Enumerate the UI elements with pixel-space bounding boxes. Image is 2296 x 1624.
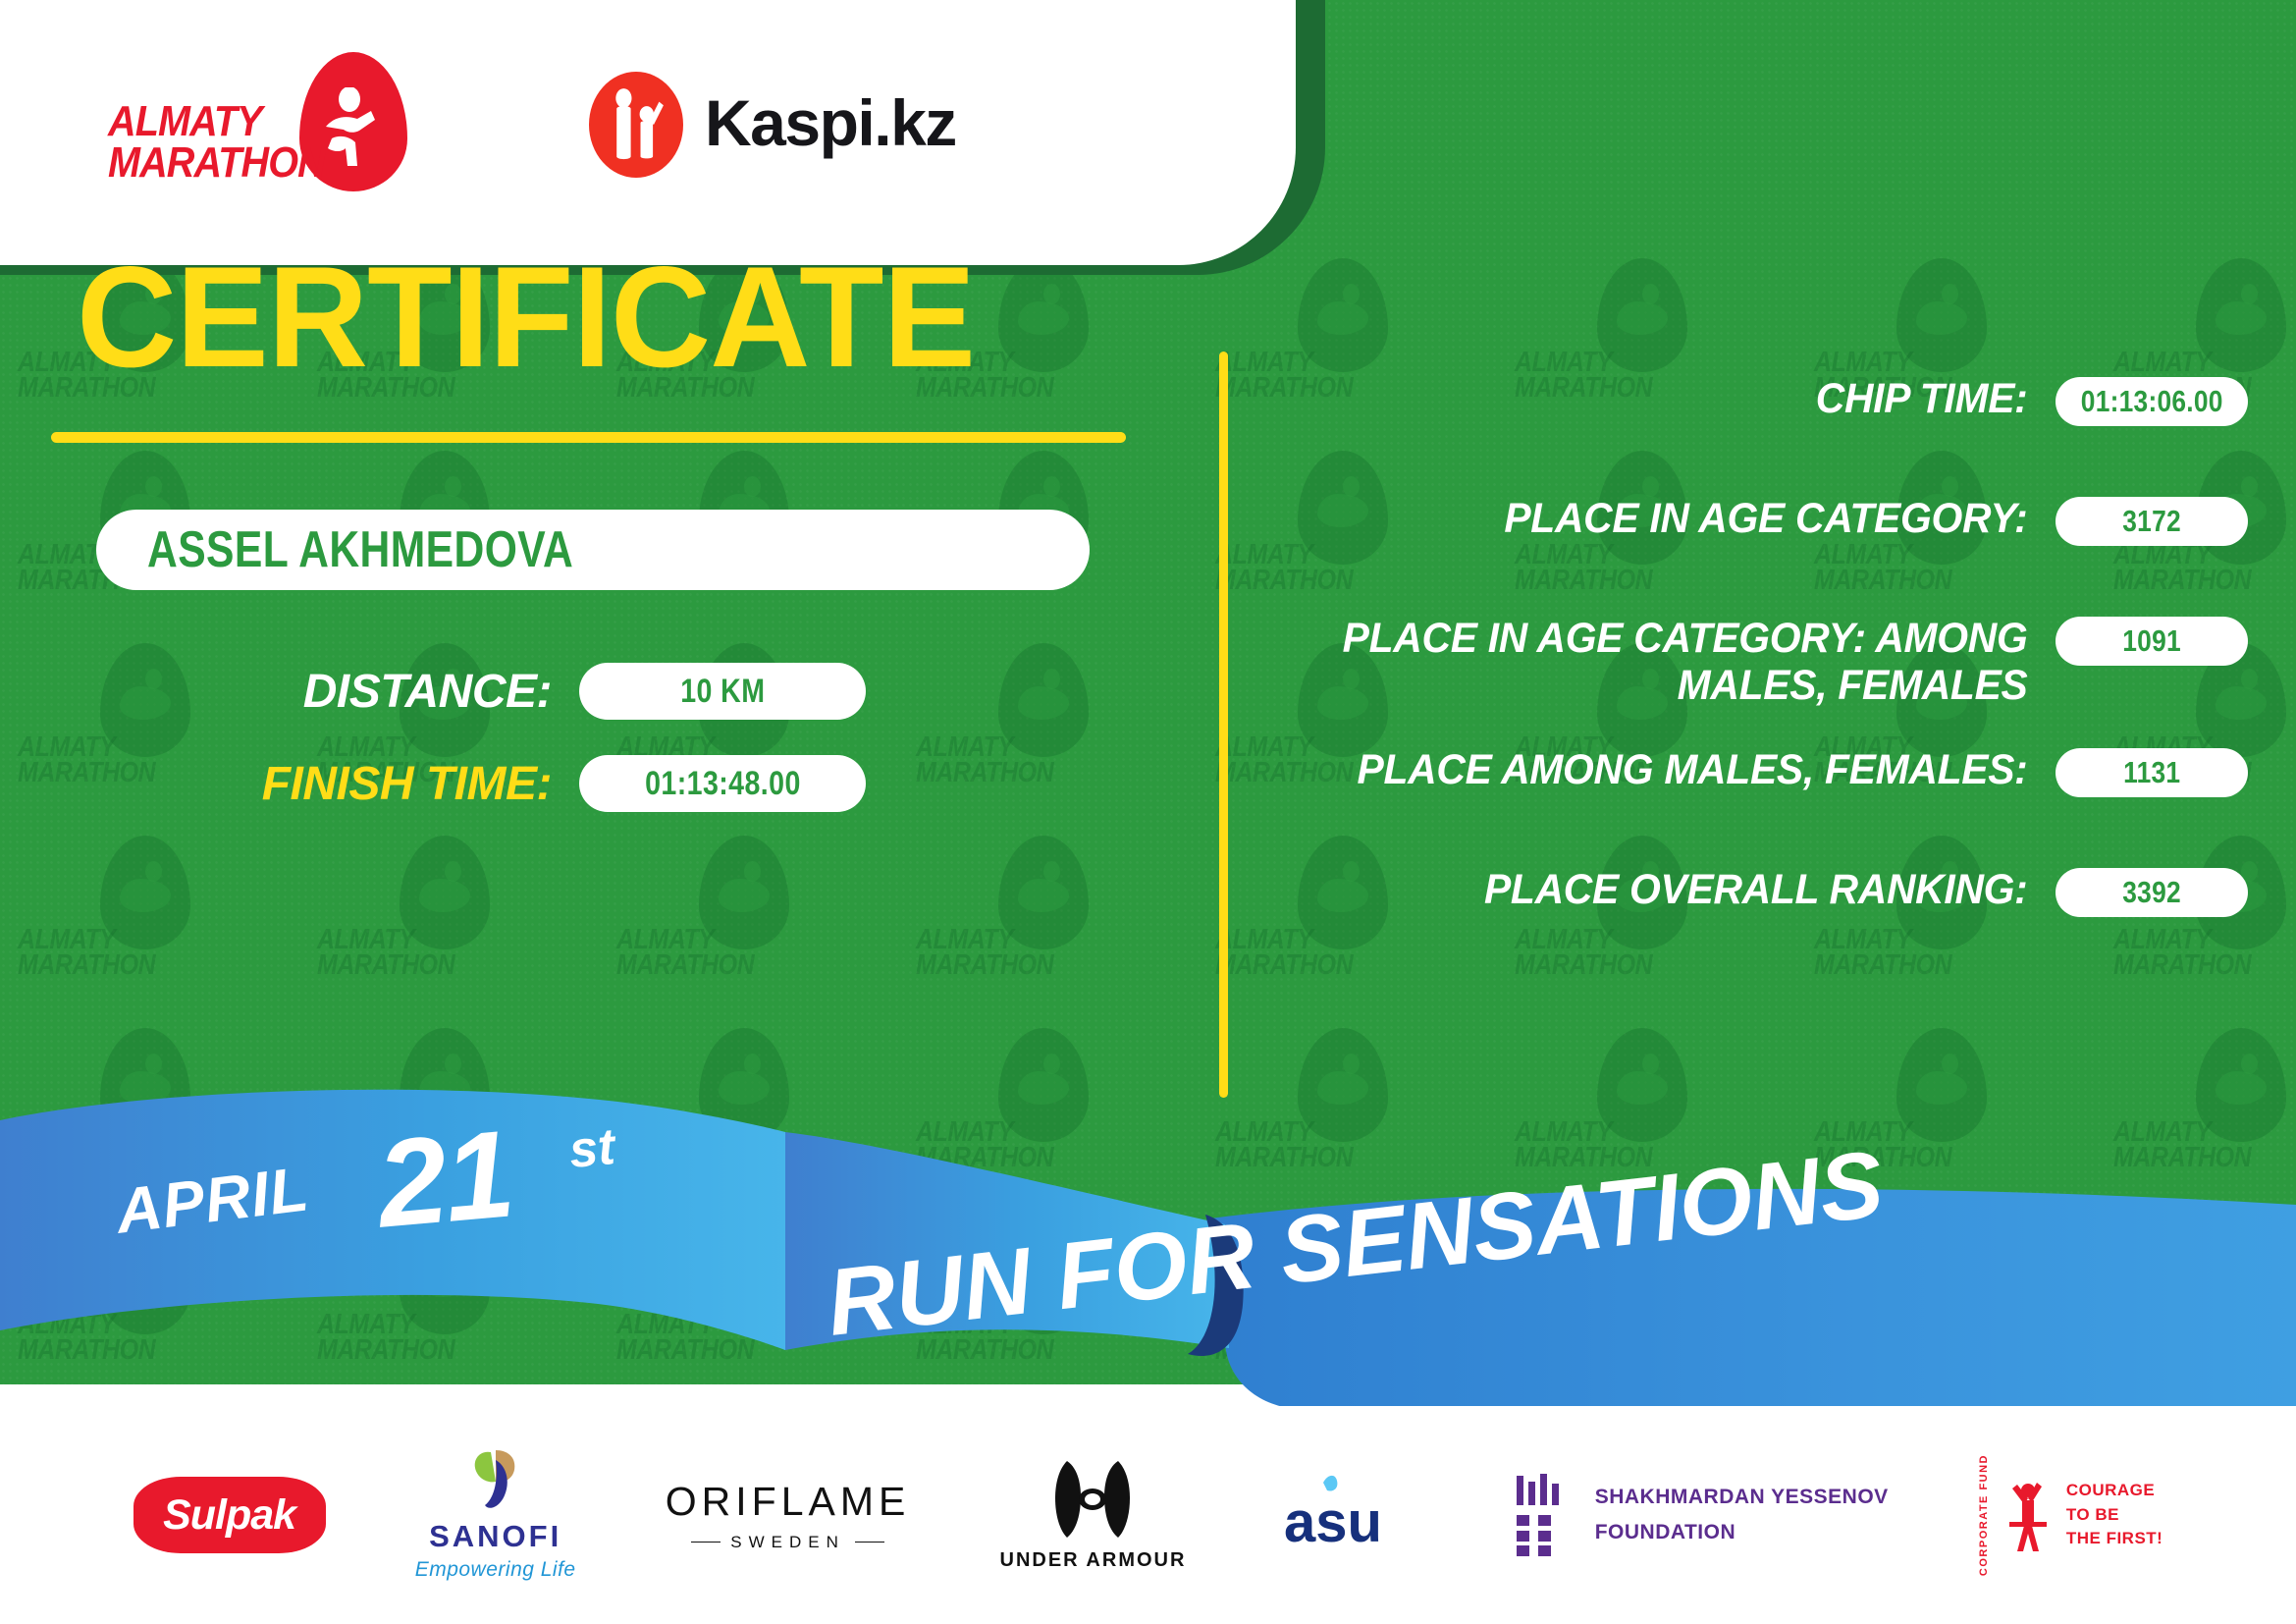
watermark-text: ALMATYMARATHON [2113, 1312, 2251, 1364]
courage-line-3: THE FIRST! [2066, 1529, 2163, 1547]
sponsors-bar: Sulpak SANOFI Empowering Life ORIFLAME S… [0, 1406, 2296, 1624]
kaspi-figures-icon [589, 64, 683, 182]
watermark-text: ALMATYMARATHON [916, 927, 1053, 979]
under-armour-wordmark: UNDER ARMOUR [1000, 1549, 1187, 1572]
stat-value: 1091 [2122, 623, 2181, 659]
sponsor-sanofi: SANOFI Empowering Life [415, 1448, 576, 1582]
sponsor-sulpak: Sulpak [133, 1477, 326, 1553]
stat-row: PLACE AMONG MALES, FEMALES:1131 [1266, 746, 2248, 829]
left-stat-label: FINISH TIME: [0, 757, 579, 811]
courage-fund-wordmark: COURAGE TO BE THE FIRST! [2066, 1479, 2163, 1551]
watermark-drop-icon [1597, 258, 1687, 372]
watermark-tile: ALMATYMARATHON [560, 1198, 859, 1384]
left-stat-row: FINISH TIME:01:13:48.00 [0, 755, 1207, 812]
certificate-page: ALMATYMARATHONALMATYMARATHONALMATYMARATH… [0, 0, 2296, 1624]
sponsor-oriflame: ORIFLAME SWEDEN [666, 1479, 911, 1552]
oriflame-wordmark: ORIFLAME [666, 1479, 911, 1525]
marathon-line: MARATHON [108, 138, 325, 187]
watermark-text: ALMATYMARATHON [18, 1119, 155, 1171]
stat-label: PLACE OVERALL RANKING: [1306, 866, 2056, 913]
sponsor-under-armour: UNDER ARMOUR [1000, 1459, 1187, 1572]
header-logos-row: ALMATY MARATHON Kaspi.kz [0, 0, 1296, 265]
stat-value: 1131 [2123, 755, 2180, 790]
watermark-drop-icon [1896, 1220, 1987, 1334]
sanofi-tagline: Empowering Life [415, 1558, 576, 1582]
watermark-text: ALMATYMARATHON [317, 1312, 454, 1364]
courage-line-2: TO BE [2066, 1505, 2119, 1524]
watermark-text: ALMATYMARATHON [616, 927, 754, 979]
watermark-drop-icon [1298, 258, 1388, 372]
left-stat-pill: 10 KM [579, 663, 866, 720]
stat-row: PLACE IN AGE CATEGORY: AMONG MALES, FEMA… [1266, 615, 2248, 709]
title-underline-rule [51, 432, 1126, 443]
watermark-tile: ALMATYMARATHON [859, 1005, 1158, 1198]
stat-value-pill: 01:13:06.00 [2056, 377, 2248, 426]
watermark-drop-icon [699, 836, 789, 949]
left-stat-pill: 01:13:48.00 [579, 755, 866, 812]
stat-label: PLACE AMONG MALES, FEMALES: [1306, 746, 2056, 793]
watermark-text: ALMATYMARATHON [18, 927, 155, 979]
watermark-drop-icon [1597, 1028, 1687, 1142]
svg-text:asu: asu [1284, 1490, 1382, 1554]
oriflame-country-label: SWEDEN [691, 1533, 884, 1552]
watermark-text: ALMATYMARATHON [616, 1312, 754, 1364]
participant-name-value: ASSEL AKHMEDOVA [147, 520, 573, 579]
stat-label: PLACE IN AGE CATEGORY: AMONG MALES, FEMA… [1306, 615, 2056, 709]
watermark-drop-icon [699, 1028, 789, 1142]
asu-logo: asu [1276, 1471, 1423, 1559]
watermark-text: ALMATYMARATHON [1515, 1312, 1652, 1364]
sanofi-wordmark: SANOFI [429, 1519, 561, 1554]
yessenov-wordmark: SHAKHMARDAN YESSENOV FOUNDATION [1595, 1480, 1889, 1549]
watermark-tile: ALMATYMARATHON [1158, 1005, 1458, 1198]
watermark-text: ALMATYMARATHON [916, 1119, 1053, 1171]
stat-row: PLACE IN AGE CATEGORY:3172 [1266, 495, 2248, 577]
watermark-drop-icon [998, 1028, 1089, 1142]
almaty-marathon-logo: ALMATY MARATHON [108, 44, 442, 201]
watermark-drop-icon [400, 836, 490, 949]
courage-figure-icon [2002, 1477, 2055, 1553]
vertical-divider [1219, 352, 1228, 1098]
watermark-drop-icon [998, 836, 1089, 949]
yessenov-line-2: FOUNDATION [1595, 1521, 1735, 1543]
stat-value-pill: 1091 [2056, 617, 2248, 666]
stat-label: PLACE IN AGE CATEGORY: [1306, 495, 2056, 542]
courage-line-1: COURAGE [2066, 1481, 2155, 1499]
watermark-drop-icon [1896, 258, 1987, 372]
stat-value: 3392 [2122, 875, 2181, 910]
watermark-drop-icon [1896, 1028, 1987, 1142]
ribbon-day-suffix: st [566, 1117, 616, 1180]
stat-label: CHIP TIME: [1306, 375, 2056, 422]
sanofi-mark-icon [465, 1448, 526, 1515]
kaspi-wordmark: Kaspi.kz [705, 85, 956, 160]
watermark-drop-icon [100, 836, 190, 949]
stat-value-pill: 3392 [2056, 868, 2248, 917]
yessenov-foundation-logo: SHAKHMARDAN YESSENOV FOUNDATION [1513, 1474, 1889, 1556]
watermark-drop-icon [100, 1028, 190, 1142]
courage-fund-arc-label: CORPORATE FUND [1978, 1454, 1990, 1576]
runner-figure-icon [320, 87, 389, 170]
yessenov-line-1: SHAKHMARDAN YESSENOV [1595, 1486, 1889, 1508]
under-armour-mark-icon [1041, 1459, 1144, 1542]
watermark-drop-icon [2196, 1220, 2286, 1334]
watermark-tile: ALMATYMARATHON [2056, 1198, 2296, 1384]
sponsor-courage-fund: CORPORATE FUND COURAGE TO BE THE FIRST! [1978, 1454, 2163, 1576]
watermark-drop-icon [1298, 1028, 1388, 1142]
left-stat-value: 10 KM [680, 673, 765, 711]
left-stats-list: DISTANCE:10 KMFINISH TIME:01:13:48.00 [0, 663, 1207, 812]
stat-value-pill: 3172 [2056, 497, 2248, 546]
watermark-text: ALMATYMARATHON [317, 927, 454, 979]
kaspi-logo: Kaspi.kz [589, 64, 956, 182]
ribbon-day-number: 21 [372, 1102, 517, 1255]
left-column: CERTIFICATE ASSEL AKHMEDOVA DISTANCE:10 … [0, 245, 1207, 847]
under-armour-logo: UNDER ARMOUR [1000, 1459, 1187, 1572]
watermark-drop-icon [699, 1220, 789, 1334]
left-stat-row: DISTANCE:10 KM [0, 663, 1207, 720]
watermark-text: ALMATYMARATHON [616, 1119, 754, 1171]
left-stat-label: DISTANCE: [0, 665, 579, 719]
stat-value: 01:13:06.00 [2081, 384, 2223, 419]
yessenov-mark-icon [1513, 1474, 1574, 1556]
participant-name-field: ASSEL AKHMEDOVA [96, 510, 1090, 590]
sanofi-logo: SANOFI Empowering Life [415, 1448, 576, 1582]
sulpak-logo: Sulpak [133, 1477, 326, 1553]
stat-row: CHIP TIME:01:13:06.00 [1266, 375, 2248, 458]
almaty-marathon-wordmark: ALMATY MARATHON [108, 101, 325, 184]
left-stat-value: 01:13:48.00 [645, 765, 801, 803]
courage-fund-logo: CORPORATE FUND COURAGE TO BE THE FIRST! [1978, 1454, 2163, 1576]
watermark-text: ALMATYMARATHON [1215, 1119, 1353, 1171]
watermark-text: ALMATYMARATHON [1814, 1312, 1951, 1364]
watermark-text: ALMATYMARATHON [2113, 1119, 2251, 1171]
sponsor-yessenov: SHAKHMARDAN YESSENOV FOUNDATION [1513, 1474, 1889, 1556]
watermark-drop-icon [2196, 1028, 2286, 1142]
watermark-text: ALMATYMARATHON [1215, 1312, 1353, 1364]
kaspi-people-icon [589, 72, 683, 178]
oriflame-logo: ORIFLAME SWEDEN [666, 1479, 911, 1552]
stat-row: PLACE OVERALL RANKING:3392 [1266, 866, 2248, 948]
watermark-drop-icon [2196, 258, 2286, 372]
sponsor-asu: asu [1276, 1471, 1423, 1559]
watermark-tile: ALMATYMARATHON [2056, 1005, 2296, 1198]
page-title: CERTIFICATE [77, 245, 1173, 389]
watermark-text: ALMATYMARATHON [18, 1312, 155, 1364]
stat-value: 3172 [2122, 504, 2181, 539]
stat-value-pill: 1131 [2056, 748, 2248, 797]
header-panel: ALMATY MARATHON Kaspi.kz [0, 0, 1296, 265]
right-stats-column: CHIP TIME:01:13:06.00PLACE IN AGE CATEGO… [1266, 375, 2248, 986]
